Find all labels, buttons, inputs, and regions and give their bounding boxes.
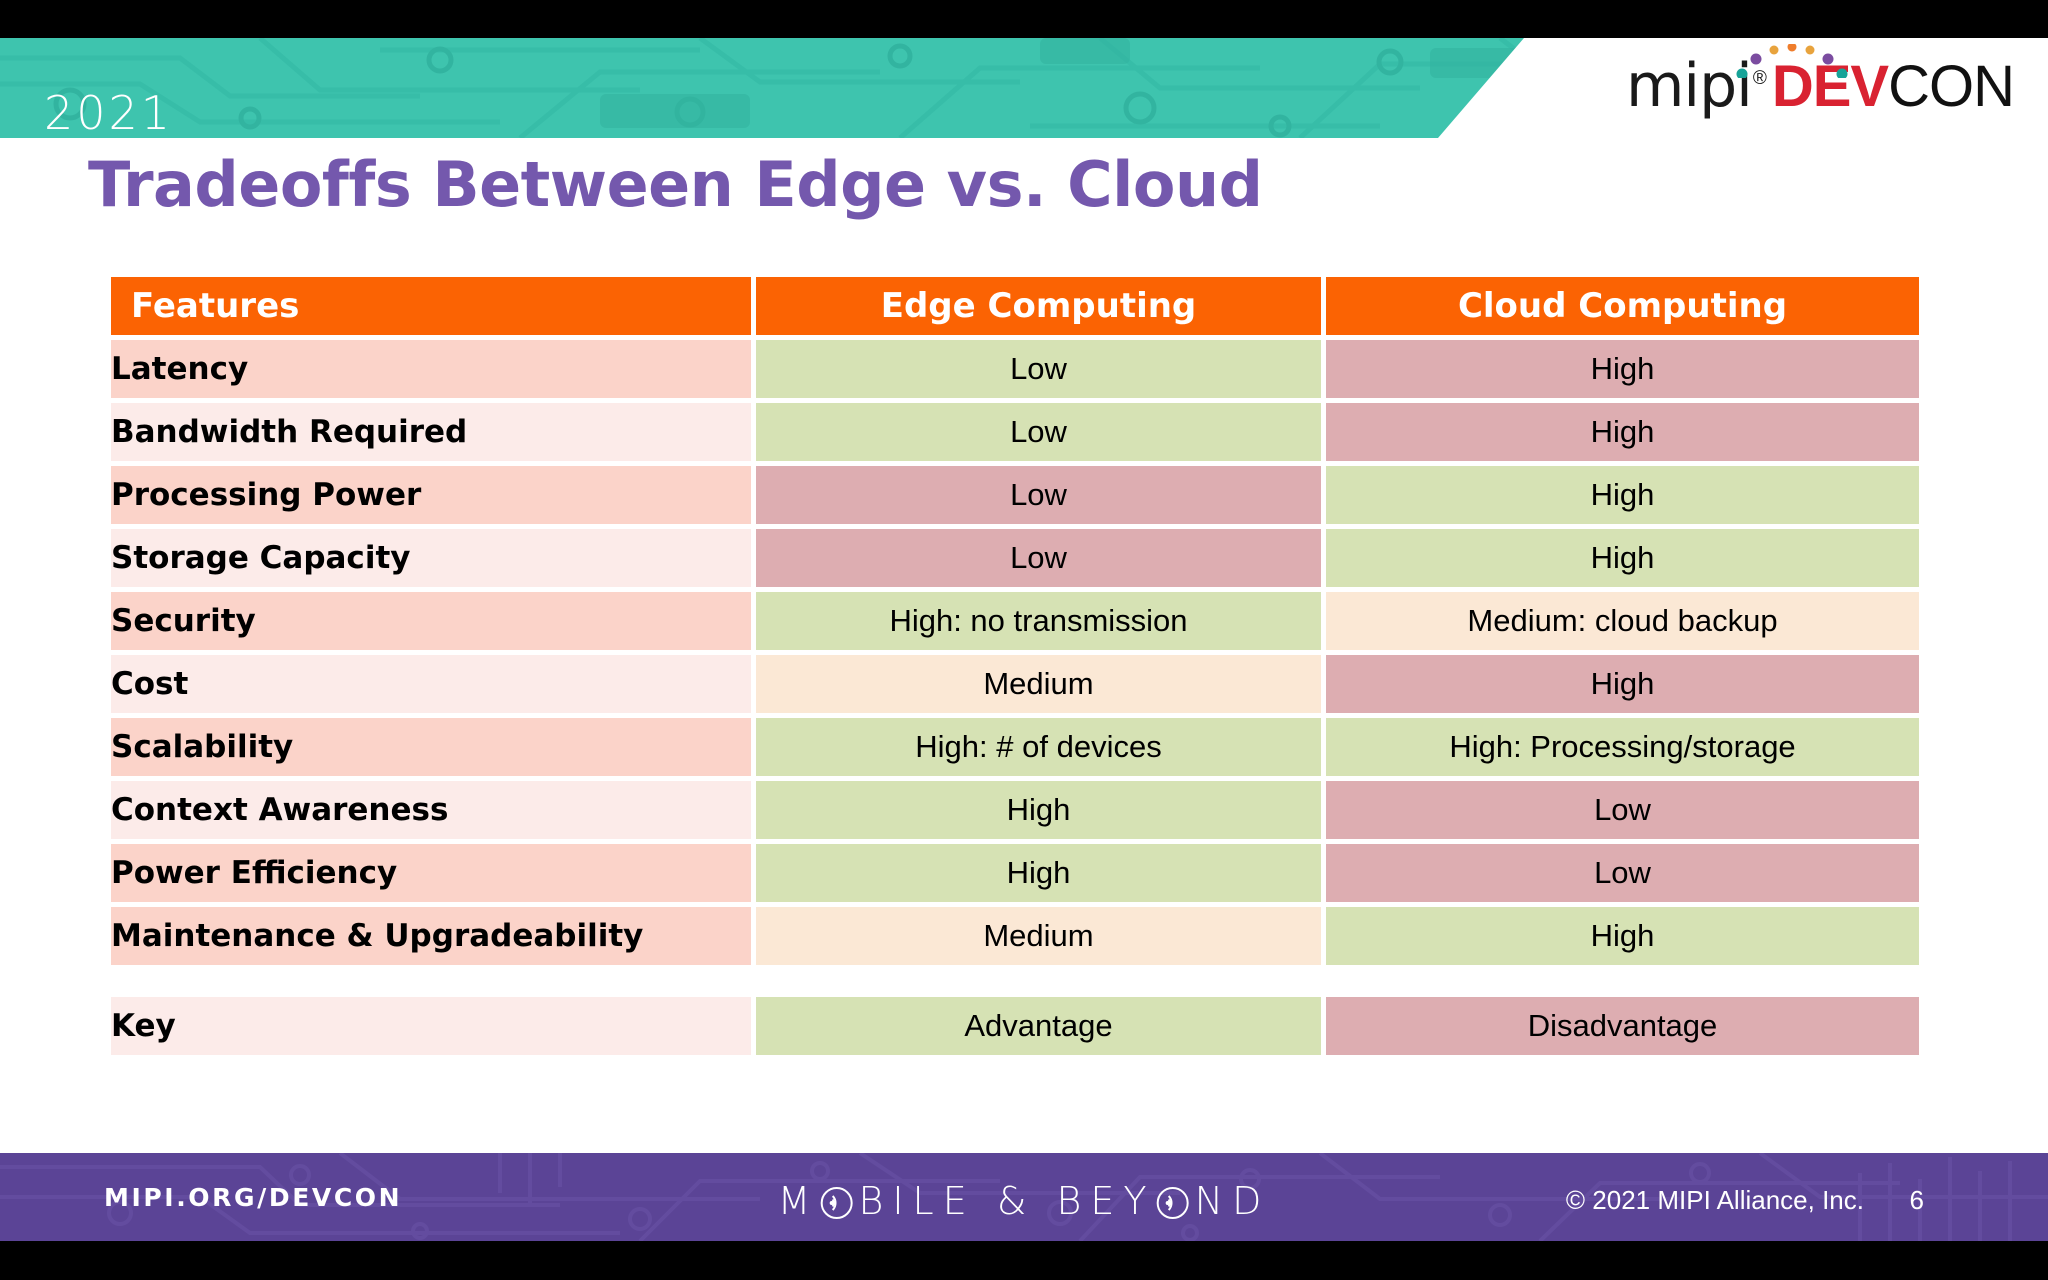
- feature-cell: Latency: [111, 340, 751, 398]
- table-body: Latency Low High Bandwidth Required Low …: [111, 340, 1919, 1055]
- table-header-row: Features Edge Computing Cloud Computing: [111, 277, 1919, 335]
- cloud-value-cell: High: [1326, 403, 1919, 461]
- feature-cell: Cost: [111, 655, 751, 713]
- page-number: 6: [1910, 1185, 1924, 1216]
- tagline-pre: M: [778, 1179, 820, 1223]
- feature-cell: Security: [111, 592, 751, 650]
- cloud-value-cell: High: [1326, 907, 1919, 965]
- feature-cell: Maintenance & Upgradeability: [111, 907, 751, 965]
- mipi-dots-arc-icon: [1732, 44, 1852, 78]
- key-disadvantage-cell: Disadvantage: [1326, 997, 1919, 1055]
- feature-cell: Processing Power: [111, 466, 751, 524]
- cloud-value-cell: High: [1326, 529, 1919, 587]
- table-row: Power Efficiency High Low: [111, 844, 1919, 902]
- table-row: Processing Power Low High: [111, 466, 1919, 524]
- table-row: Security High: no transmission Medium: c…: [111, 592, 1919, 650]
- column-header-features: Features: [111, 277, 751, 335]
- table-row: Storage Capacity Low High: [111, 529, 1919, 587]
- cloud-value-cell: High: [1326, 655, 1919, 713]
- table-gap-row: [111, 970, 1919, 992]
- feature-cell: Power Efficiency: [111, 844, 751, 902]
- edge-value-cell: High: # of devices: [756, 718, 1321, 776]
- table-row: Maintenance & Upgradeability Medium High: [111, 907, 1919, 965]
- cloud-value-cell: High: [1326, 340, 1919, 398]
- wave-o-icon-2: [1156, 1186, 1190, 1220]
- gap-cell: [756, 970, 1321, 992]
- key-advantage-cell: Advantage: [756, 997, 1321, 1055]
- feature-cell: Storage Capacity: [111, 529, 751, 587]
- bottom-letterbox: [0, 1241, 2048, 1280]
- gap-cell: [1326, 970, 1919, 992]
- key-row: Key Advantage Disadvantage: [111, 997, 1919, 1055]
- gap-cell: [111, 970, 751, 992]
- page-title: Tradeoffs Between Edge vs. Cloud: [88, 148, 1262, 221]
- cloud-value-cell: Low: [1326, 781, 1919, 839]
- column-header-edge-computing: Edge Computing: [756, 277, 1321, 335]
- edge-value-cell: High: [756, 844, 1321, 902]
- edge-value-cell: Low: [756, 340, 1321, 398]
- table-row: Bandwidth Required Low High: [111, 403, 1919, 461]
- copyright-text: © 2021 MIPI Alliance, Inc.: [1566, 1185, 1864, 1216]
- edge-value-cell: Low: [756, 403, 1321, 461]
- table-row: Latency Low High: [111, 340, 1919, 398]
- cloud-value-cell: High: Processing/storage: [1326, 718, 1919, 776]
- feature-cell: Scalability: [111, 718, 751, 776]
- edge-value-cell: Low: [756, 529, 1321, 587]
- tagline-post: BILE & BEY: [858, 1179, 1155, 1223]
- table-row: Cost Medium High: [111, 655, 1919, 713]
- edge-value-cell: Medium: [756, 907, 1321, 965]
- table-row: Scalability High: # of devices High: Pro…: [111, 718, 1919, 776]
- slide-canvas: 2021 mipi®DEVCON Tradeoffs Between Edge …: [0, 0, 2048, 1280]
- feature-cell: Bandwidth Required: [111, 403, 751, 461]
- footer-bar: MIPI.ORG/DEVCON M BILE & BEY ND © 2021 M…: [0, 1153, 2048, 1241]
- logo-con-text: CON: [1888, 58, 2014, 116]
- footer-tagline: M BILE & BEY ND: [778, 1179, 1271, 1223]
- edge-value-cell: High: [756, 781, 1321, 839]
- table-row: Context Awareness High Low: [111, 781, 1919, 839]
- edge-value-cell: Low: [756, 466, 1321, 524]
- year-label: 2021: [44, 86, 173, 138]
- wave-o-icon: [819, 1186, 853, 1220]
- cloud-value-cell: Low: [1326, 844, 1919, 902]
- cloud-value-cell: High: [1326, 466, 1919, 524]
- edge-value-cell: Medium: [756, 655, 1321, 713]
- feature-cell: Context Awareness: [111, 781, 751, 839]
- tradeoffs-table: Features Edge Computing Cloud Computing …: [106, 272, 1924, 1060]
- tagline-end: ND: [1195, 1179, 1271, 1223]
- cloud-value-cell: Medium: cloud backup: [1326, 592, 1919, 650]
- key-label: Key: [111, 997, 751, 1055]
- edge-value-cell: High: no transmission: [756, 592, 1321, 650]
- footer-url[interactable]: MIPI.ORG/DEVCON: [104, 1183, 402, 1212]
- column-header-cloud-computing: Cloud Computing: [1326, 277, 1919, 335]
